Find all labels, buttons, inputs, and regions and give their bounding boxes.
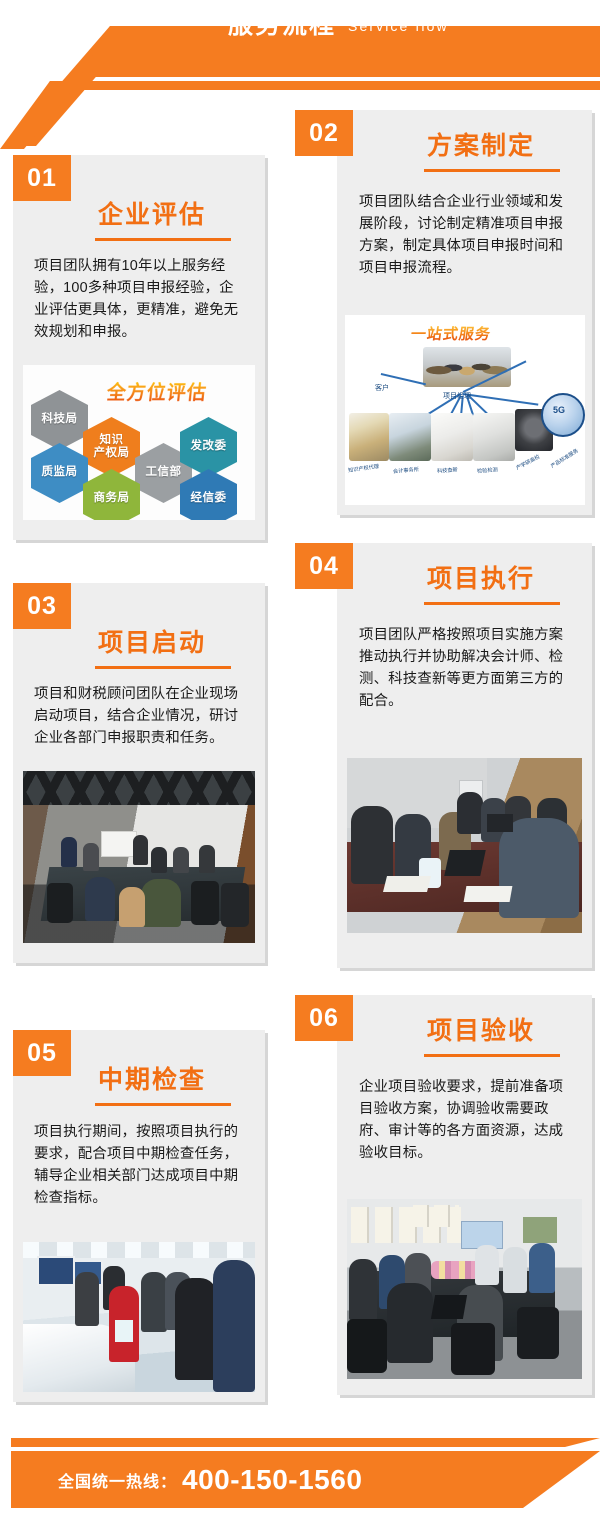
paper-stack: [383, 876, 431, 892]
office-chair: [451, 1323, 495, 1375]
document-held: [115, 1320, 133, 1342]
green-wall-panel: [523, 1217, 557, 1243]
card-body-text: 项目和财税顾问团队在企业现场启动项目，结合企业情况，研讨企业各部门申报职责和任务…: [34, 684, 244, 750]
person: [457, 792, 483, 834]
person: [61, 837, 77, 867]
card-title: 项目验收: [427, 1019, 535, 1044]
header-title-group: 服务流程 Service flow: [0, 0, 600, 51]
page-title: 服务流程: [228, 13, 336, 38]
hotline-label: 全国统一热线：: [58, 1468, 177, 1492]
header-underline-stripe: [0, 81, 600, 90]
person: [529, 1243, 555, 1293]
card-number-badge: 02: [295, 110, 353, 156]
photo-midterm-inspection: [23, 1242, 255, 1392]
paper-stack: [464, 886, 513, 902]
card-title: 方案制定: [427, 134, 535, 159]
process-card-06[interactable]: 06 项目验收 企业项目验收要求，提前准备项目验收方案，协调验收需要政府、审计等…: [337, 995, 592, 1395]
office-chair: [191, 881, 219, 925]
one-stop-node-customer: 客户: [375, 383, 389, 393]
card-body-text: 项目执行期间，按照项目执行的要求，配合项目中期检查任务，辅导企业相关部门达成项目…: [34, 1122, 244, 1210]
card-body-text: 项目团队严格按照项目实施方案推动执行并协助解决会计师、检测、科技查新等更方面第三…: [359, 625, 574, 713]
one-stop-thumb-research: [431, 413, 473, 461]
page-subtitle: Service flow: [348, 19, 449, 33]
person: [503, 1247, 527, 1293]
photo-execution-worksession: [347, 758, 582, 933]
office-chair: [221, 883, 249, 927]
hex-assessment-diagram: 全方位评估 科技局 知识 产权局 质监局 工信部 商务局 发改委 经信委: [23, 365, 255, 520]
person: [141, 1272, 167, 1332]
laptop: [431, 1295, 467, 1319]
photo-kickoff-meeting: [23, 771, 255, 943]
card-title: 中期检查: [98, 1068, 206, 1093]
person-blue-jacket: [213, 1260, 255, 1392]
one-stop-label-university: 产学研高校: [515, 453, 541, 471]
person: [351, 806, 393, 884]
card-body-text: 企业项目验收要求，提前准备项目验收方案，协调验收需要政府、审计等的各方面资源，达…: [359, 1077, 574, 1165]
infographic-page: 服务流程 Service flow 01 企业评估 项目团队拥有10年以上服务经…: [0, 0, 605, 1538]
card-title-rule: [95, 1103, 231, 1106]
person-black-jacket: [175, 1278, 217, 1380]
one-stop-label-research: 科技查新: [437, 466, 458, 474]
person: [133, 835, 148, 865]
one-stop-service-diagram: 一站式服务 客户 项目经理 5G 知识产权代理 会计事务所 科技查: [345, 315, 585, 505]
one-stop-label-ip: 知识产权代理: [348, 463, 380, 474]
one-stop-certification-seal: [541, 393, 585, 437]
office-chair: [517, 1307, 559, 1359]
hex-node-zhishi: 知识 产权局: [83, 417, 140, 477]
hotline-number[interactable]: 400-150-1560: [182, 1464, 362, 1496]
one-stop-thumb-ip: [349, 413, 389, 461]
card-number-badge: 04: [295, 543, 353, 589]
laptop: [487, 814, 513, 832]
wall-monitor: [37, 1256, 75, 1286]
process-card-03[interactable]: 03 项目启动 项目和财税顾问团队在企业现场启动项目，结合企业情况，研讨企业各部…: [13, 583, 265, 963]
person: [151, 847, 167, 873]
person: [75, 1272, 99, 1326]
card-body-text: 项目团队拥有10年以上服务经验，100多种项目申报经验，企业评估更具体，更精准，…: [34, 256, 244, 344]
person: [199, 845, 215, 873]
footer-top-stripe: [11, 1438, 600, 1447]
one-stop-seal-label: 5G: [553, 405, 565, 415]
one-stop-thumb-testing: [473, 413, 515, 461]
card-title-rule: [95, 238, 231, 241]
process-card-02[interactable]: 02 方案制定 项目团队结合企业行业领域和发展阶段，讨论制定精准项目申报方案，制…: [337, 110, 592, 515]
card-title: 项目启动: [98, 631, 206, 656]
certificate-wall: [413, 1205, 459, 1227]
card-title-rule: [424, 1054, 560, 1057]
card-title-rule: [424, 602, 560, 605]
person: [349, 1259, 377, 1321]
one-stop-label-accounting: 会计事务所: [393, 466, 419, 475]
one-stop-node-manager: 项目经理: [443, 391, 471, 401]
card-number-badge: 05: [13, 1030, 71, 1076]
person-green-jacket: [141, 879, 181, 927]
card-title: 项目执行: [427, 567, 535, 592]
office-chair: [47, 883, 73, 923]
process-card-01[interactable]: 01 企业评估 项目团队拥有10年以上服务经验，100多种项目申报经验，企业评估…: [13, 155, 265, 540]
hex-node-keji: 科技局: [31, 390, 88, 450]
laptop: [444, 850, 486, 876]
person-foreground: [499, 818, 579, 918]
ceiling-hex-pattern: [23, 771, 255, 805]
person: [173, 847, 189, 873]
one-stop-label-standard: 产品标准服务: [550, 447, 580, 469]
photo-acceptance-meeting: [347, 1199, 582, 1379]
one-stop-center-photo: [423, 347, 511, 387]
card-number-badge: 06: [295, 995, 353, 1041]
person-seated: [119, 887, 145, 927]
process-card-05[interactable]: 05 中期检查 项目执行期间，按照项目执行的要求，配合项目中期检查任务，辅导企业…: [13, 1030, 265, 1402]
card-title-rule: [95, 666, 231, 669]
card-title-rule: [424, 169, 560, 172]
hex-diagram-title: 全方位评估: [106, 378, 209, 405]
person-seated: [85, 877, 115, 921]
process-card-04[interactable]: 04 项目执行 项目团队严格按照项目实施方案推动执行并协助解决会计师、检测、科技…: [337, 543, 592, 968]
card-number-badge: 03: [13, 583, 71, 629]
person: [475, 1245, 499, 1285]
card-number-badge: 01: [13, 155, 71, 201]
hex-node-zhijian: 质监局: [31, 443, 88, 503]
office-chair: [347, 1319, 387, 1373]
one-stop-label-testing: 检验检测: [477, 466, 498, 474]
card-title: 企业评估: [98, 203, 206, 228]
footer-text-group: 全国统一热线： 400-150-1560: [11, 1451, 600, 1508]
person-foreground: [387, 1283, 433, 1363]
person: [83, 843, 99, 871]
card-body-text: 项目团队结合企业行业领域和发展阶段，讨论制定精准项目申报方案，制定具体项目申报时…: [359, 192, 574, 280]
one-stop-title: 一站式服务: [410, 323, 493, 344]
whiteboard: [101, 831, 137, 857]
hex-node-shangwu: 商务局: [83, 469, 140, 520]
one-stop-thumb-accounting: [389, 413, 431, 461]
